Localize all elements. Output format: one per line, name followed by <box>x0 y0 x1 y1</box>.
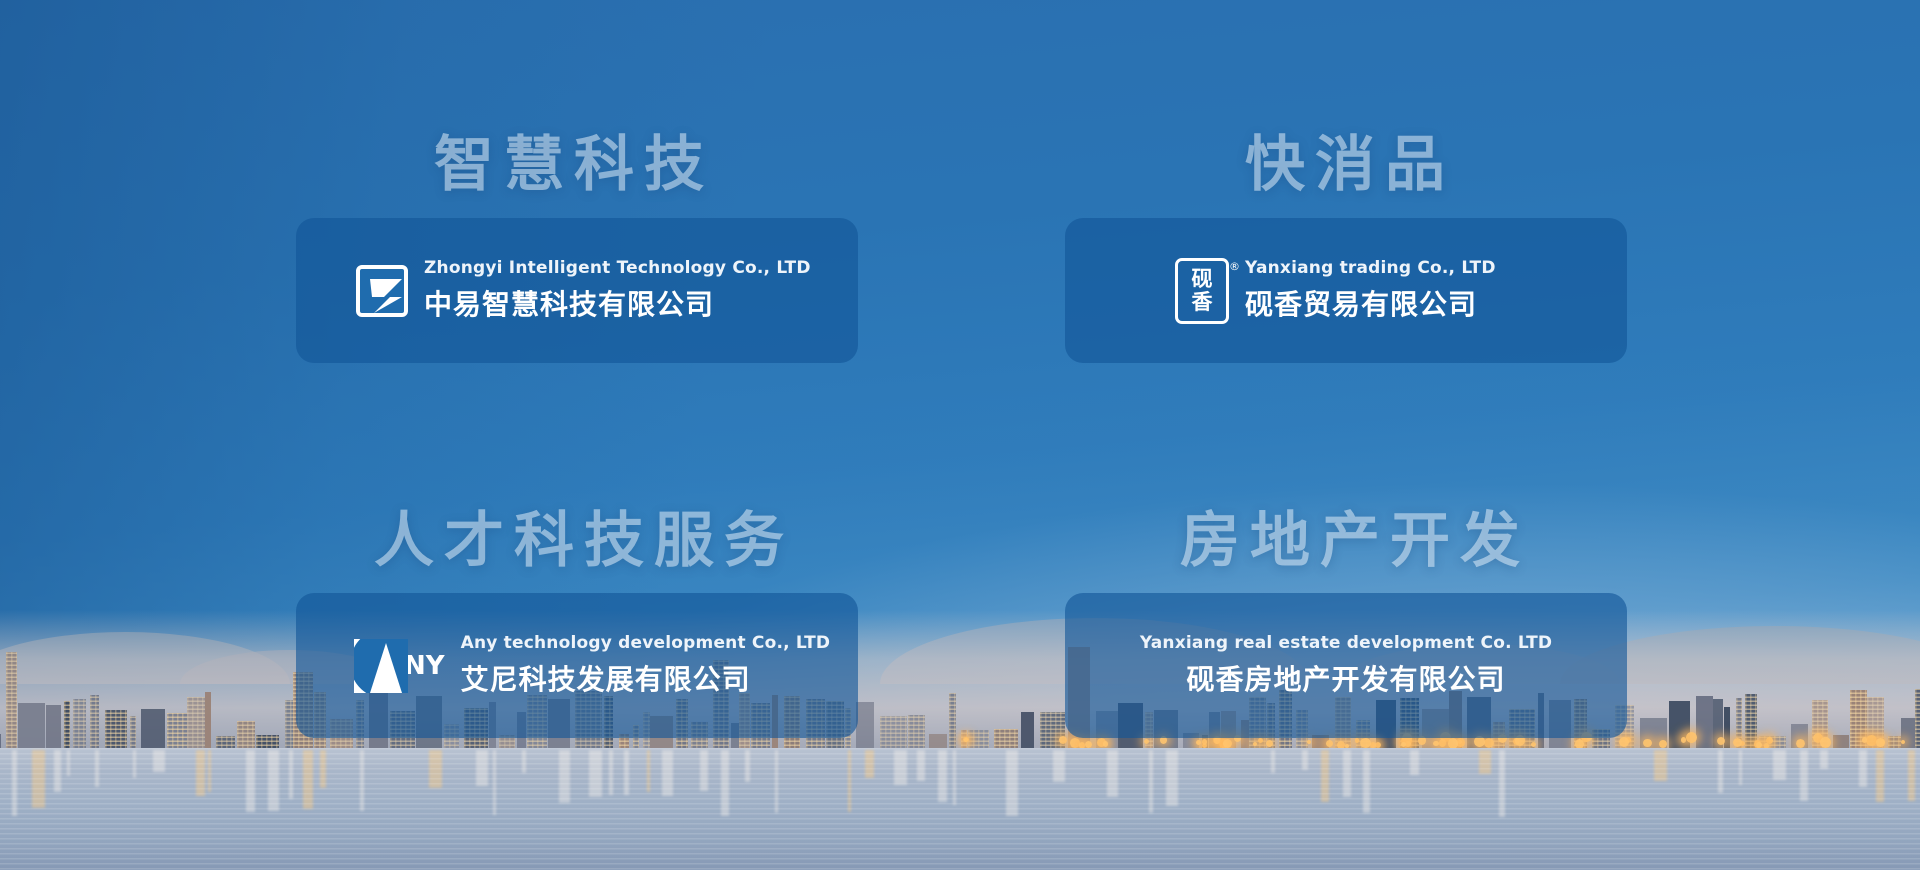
company-names: Any technology development Co., LTD 艾尼科技… <box>461 633 831 698</box>
section-heading-talent-tech-services: 人才科技服务 <box>374 492 794 579</box>
company-names: Zhongyi Intelligent Technology Co., LTD … <box>424 258 811 323</box>
company-name-en: Any technology development Co., LTD <box>461 633 831 653</box>
z-glyph-icon <box>364 273 408 317</box>
content-layer: 智慧科技 快消品 人才科技服务 房地产开发 Zhongyi Intelligen… <box>0 0 1920 870</box>
any-mountain-logo-icon <box>354 639 408 693</box>
company-names: Yanxiang real estate development Co. LTD… <box>1140 633 1552 698</box>
registered-mark-icon: ® <box>1229 255 1240 278</box>
company-card-yanxiang-trading[interactable]: 砚 香 ® Yanxiang trading Co., LTD 砚香贸易有限公司 <box>1065 218 1627 363</box>
company-card-yanxiang-real-estate[interactable]: Yanxiang real estate development Co. LTD… <box>1065 593 1627 738</box>
logo-wrapper <box>356 265 408 317</box>
zhongyi-z-mark-icon <box>356 265 408 317</box>
yanxiang-seal-icon: 砚 香 ® <box>1175 258 1229 324</box>
logo-wrapper: NY <box>354 639 445 693</box>
section-heading-real-estate: 房地产开发 <box>1180 492 1530 579</box>
logo-wrapper: 砚 香 ® <box>1175 258 1229 324</box>
company-name-cn: 砚香贸易有限公司 <box>1245 283 1496 323</box>
section-heading-smart-technology: 智慧科技 <box>434 116 714 203</box>
seal-char-top: 砚 <box>1192 268 1213 291</box>
company-name-en: Yanxiang real estate development Co. LTD <box>1140 633 1552 653</box>
seal-char-bottom: 香 <box>1192 291 1213 314</box>
company-card-zhongyi[interactable]: Zhongyi Intelligent Technology Co., LTD … <box>296 218 858 363</box>
company-name-cn: 砚香房地产开发有限公司 <box>1186 658 1505 698</box>
company-card-any-technology[interactable]: NY Any technology development Co., LTD 艾… <box>296 593 858 738</box>
company-name-en: Yanxiang trading Co., LTD <box>1245 258 1496 278</box>
company-names: Yanxiang trading Co., LTD 砚香贸易有限公司 <box>1245 258 1496 323</box>
any-wordmark: NY <box>404 651 445 681</box>
section-heading-fmcg: 快消品 <box>1245 116 1455 203</box>
company-name-cn: 艾尼科技发展有限公司 <box>461 658 831 698</box>
company-name-cn: 中易智慧科技有限公司 <box>424 283 811 323</box>
company-name-en: Zhongyi Intelligent Technology Co., LTD <box>424 258 811 278</box>
